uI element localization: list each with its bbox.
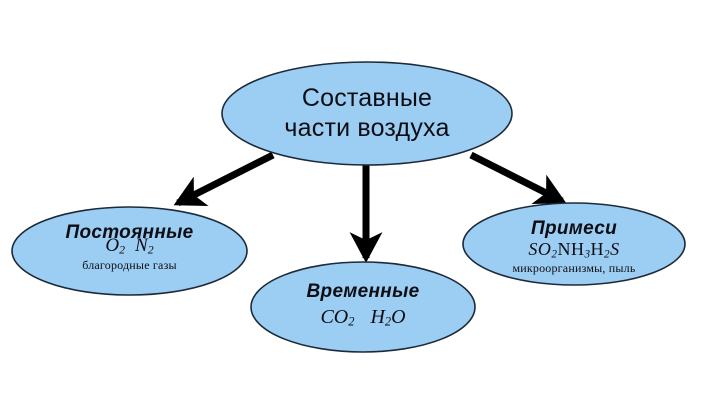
node-temporary[interactable]: [251, 262, 475, 352]
arrow-root-to-constant: [178, 155, 273, 203]
diagram-canvas: [0, 0, 707, 406]
node-impurities[interactable]: [463, 203, 685, 285]
node-root[interactable]: [222, 62, 512, 165]
arrow-root-to-impurities: [471, 155, 562, 201]
node-constant[interactable]: [12, 207, 247, 295]
